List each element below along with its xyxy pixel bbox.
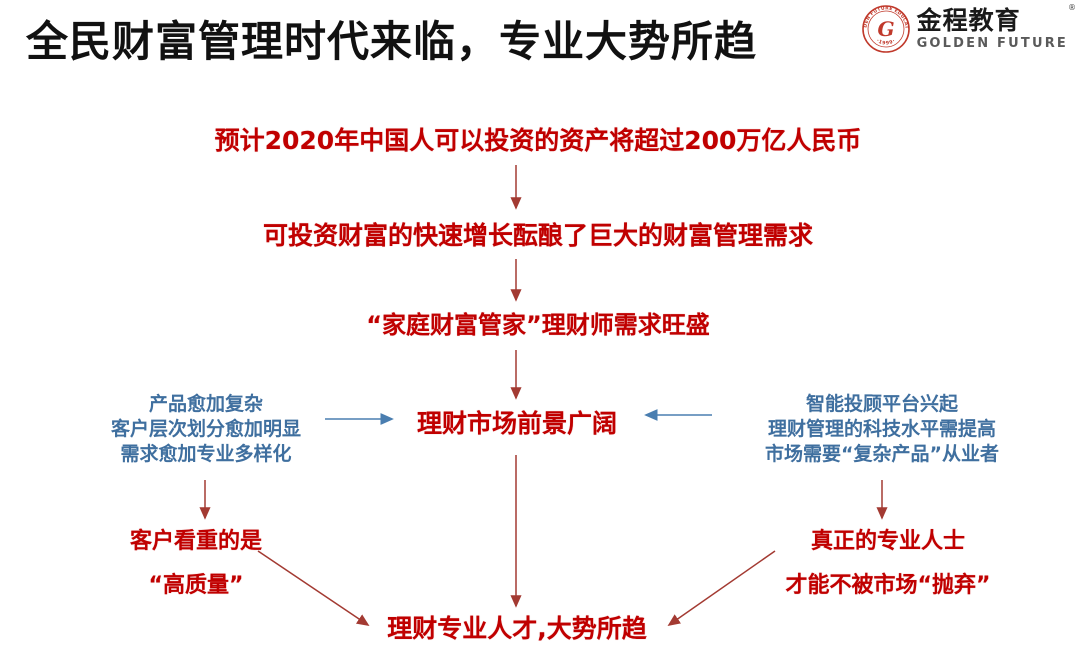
slide-canvas: 全民财富管理时代来临，专业大势所趋 GOLDEN FUTURE EDUCATIO… <box>0 0 1076 657</box>
flow-node-professional: 真正的专业人士 才能不被市场“抛弃” <box>786 527 991 600</box>
brand-lockup: 金程教育 ® GOLDEN FUTURE <box>917 8 1068 50</box>
brand-name-en: GOLDEN FUTURE <box>917 37 1068 50</box>
flow-node-conclusion: 理财专业人才,大势所趋 <box>387 612 647 645</box>
right-factor-line-3: 市场需要“复杂产品”从业者 <box>765 443 999 465</box>
left-factor-line-3: 需求愈加专业多样化 <box>120 443 291 465</box>
flow-node-1: 预计2020年中国人可以投资的资产将超过200万亿人民币 <box>215 124 862 157</box>
arrow-right-lower-to-bottom <box>669 551 775 625</box>
page-title: 全民财富管理时代来临，专业大势所趋 <box>26 8 757 69</box>
professional-line-1: 真正的专业人士 <box>811 529 965 554</box>
professional-line-2: 才能不被市场“抛弃” <box>786 571 991 600</box>
left-factor-line-2: 客户层次划分愈加明显 <box>111 418 301 440</box>
left-factor-line-1: 产品愈加复杂 <box>149 393 263 415</box>
flow-node-right-factors: 智能投顾平台兴起 理财管理的科技水平需提高 市场需要“复杂产品”从业者 <box>765 392 999 467</box>
flow-node-client-value: 客户看重的是 “高质量” <box>130 527 262 600</box>
brand-name-cn: 金程教育 ® <box>917 8 1068 33</box>
brand-name-cn-text: 金程教育 <box>917 6 1021 35</box>
client-value-line-2: “高质量” <box>130 571 262 600</box>
flow-node-3: “家庭财富管家”理财师需求旺盛 <box>366 310 710 342</box>
client-value-line-1: 客户看重的是 <box>130 529 262 554</box>
arrow-left-lower-to-bottom <box>258 551 368 625</box>
right-factor-line-2: 理财管理的科技水平需提高 <box>768 418 996 440</box>
right-factor-line-1: 智能投顾平台兴起 <box>806 393 958 415</box>
flow-node-2: 可投资财富的快速增长酝酿了巨大的财富管理需求 <box>263 219 813 252</box>
svg-text:G: G <box>877 17 894 41</box>
flow-node-left-factors: 产品愈加复杂 客户层次划分愈加明显 需求愈加专业多样化 <box>111 392 301 467</box>
seal-icon: GOLDEN FUTURE EDUCATION ·1999· G <box>861 4 911 54</box>
flow-node-market-outlook: 理财市场前景广阔 <box>417 407 617 440</box>
brand-logo: GOLDEN FUTURE EDUCATION ·1999· G 金程教育 ® … <box>861 2 1068 56</box>
registered-mark: ® <box>1068 4 1076 12</box>
